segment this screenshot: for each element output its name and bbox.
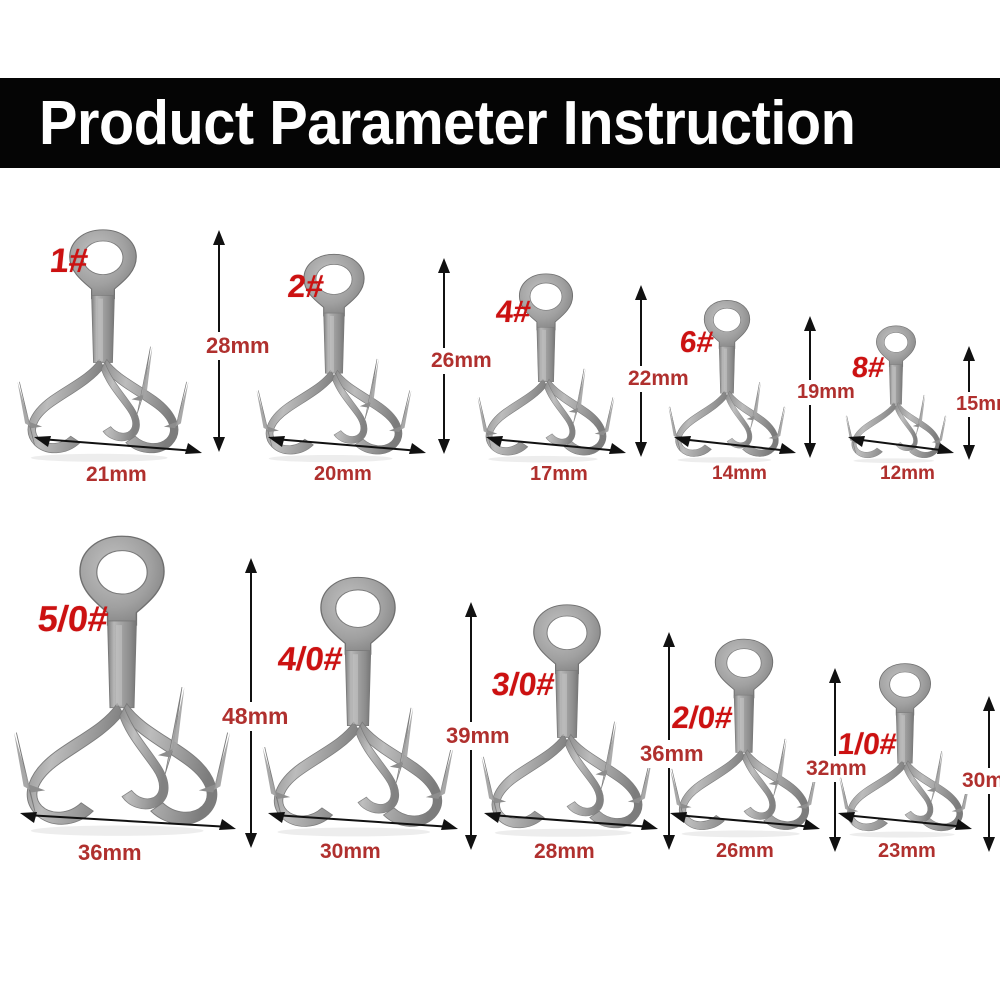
- hook-size-label: 3/0#: [490, 666, 556, 703]
- hook-width-label: 23mm: [878, 840, 936, 863]
- hook-height-label: 30mm: [960, 768, 1000, 794]
- hook-point-left: [27, 704, 123, 825]
- hook-eye-hole: [530, 283, 562, 310]
- hook-width-label: 21mm: [86, 463, 147, 487]
- hook-width-label: 12mm: [880, 463, 935, 485]
- hook-width-label: 30mm: [320, 840, 381, 864]
- hook-barb-center: [774, 739, 785, 796]
- treble-fishing-hook-icon: [252, 572, 464, 840]
- hook-barb-center: [137, 347, 150, 414]
- double-headed-horizontal-arrow-icon: [268, 808, 458, 834]
- hook-eye-hole: [713, 308, 740, 332]
- hook-barb-center: [573, 369, 584, 424]
- double-headed-horizontal-arrow-icon: [20, 808, 236, 834]
- double-headed-horizontal-arrow-icon: [268, 432, 426, 458]
- hook-barb-center: [750, 382, 759, 429]
- hook-spec-cell: 1/0# 30mm 23mm: [832, 540, 1000, 900]
- hook-size-label: 5/0#: [36, 598, 110, 640]
- treble-fishing-hook-icon: [8, 225, 198, 465]
- hook-width-label: 14mm: [712, 463, 767, 485]
- hook-width-label: 28mm: [534, 840, 595, 864]
- hook-spec-cell: 8# 15mm 12mm: [840, 180, 1000, 525]
- product-parameter-page: Product Parameter Instruction: [0, 0, 1000, 1000]
- hook-barb-center: [916, 395, 924, 435]
- hook-illustration: [472, 600, 662, 840]
- hook-width-label: 36mm: [78, 840, 142, 866]
- double-headed-horizontal-arrow-icon: [34, 432, 202, 458]
- hook-size-label: 1#: [48, 242, 90, 281]
- hook-barb-center: [601, 722, 614, 789]
- hook-size-label: 4/0#: [276, 640, 344, 678]
- hook-illustration: [252, 572, 464, 840]
- treble-fishing-hook-icon: [2, 530, 242, 840]
- hook-barb-center: [396, 708, 411, 783]
- double-headed-horizontal-arrow-icon: [484, 808, 658, 834]
- hook-size-label: 8#: [850, 352, 886, 385]
- hook-width-label: 26mm: [716, 840, 774, 863]
- hook-illustration: [2, 530, 242, 840]
- hook-size-label: 2/0#: [670, 700, 734, 736]
- hook-width-label: 17mm: [530, 463, 588, 486]
- title-banner: Product Parameter Instruction: [0, 78, 1000, 168]
- double-headed-horizontal-arrow-icon: [838, 808, 972, 834]
- hook-eye-hole: [890, 672, 921, 697]
- treble-fishing-hook-icon: [472, 600, 662, 840]
- hook-size-label: 6#: [678, 326, 715, 360]
- hook-eye-hole: [97, 551, 147, 594]
- hook-size-label: 4#: [494, 294, 532, 330]
- hook-height-label: 15mm: [954, 392, 1000, 417]
- aught-sizes-row: 5/0# 48mm 36mm: [0, 540, 1000, 900]
- hook-eye-hole: [547, 616, 587, 650]
- hook-barb-center: [165, 687, 182, 774]
- double-headed-horizontal-arrow-icon: [674, 432, 796, 458]
- hook-barb-left: [19, 382, 34, 445]
- hook-width-label: 20mm: [314, 463, 372, 486]
- page-title: Product Parameter Instruction: [0, 88, 855, 159]
- double-headed-horizontal-arrow-icon: [486, 432, 626, 458]
- double-headed-horizontal-arrow-icon: [848, 432, 954, 458]
- hook-barb-right: [208, 733, 227, 815]
- hook-eye-hole: [336, 590, 381, 628]
- hook-eye-hole: [727, 649, 761, 678]
- hook-barb-center: [931, 751, 941, 801]
- hook-eye-hole: [884, 332, 908, 352]
- hook-size-label: 2#: [286, 268, 325, 305]
- hook-illustration: [8, 225, 198, 465]
- hook-barb-left: [16, 733, 35, 815]
- standard-sizes-row: 1# 28mm 21mm: [0, 175, 1000, 525]
- hook-barb-center: [365, 359, 377, 419]
- double-headed-horizontal-arrow-icon: [670, 808, 820, 834]
- hook-size-label: 1/0#: [836, 728, 898, 762]
